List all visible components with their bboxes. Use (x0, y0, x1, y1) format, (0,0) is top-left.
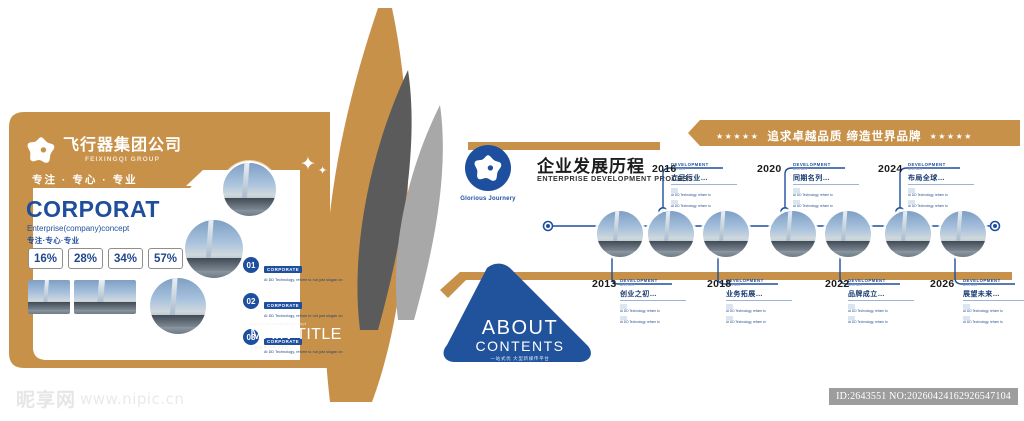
timeline-year: 2016 (652, 163, 677, 175)
list-item-text: At DD Technology, reform to not just slo… (264, 278, 343, 282)
bridge-photo (74, 280, 136, 314)
company-logo: 飞行器集团公司 FEIXINGQI GROUP (26, 136, 182, 165)
list-item: 02 CORPORATE At DD Technology, reform to… (243, 293, 355, 318)
list-item-tag: CORPORATE (264, 302, 302, 309)
bridge-photo (770, 211, 816, 257)
timeline-body: At DD Technology, reform to (671, 200, 737, 209)
list-item-tag: CORPORATE (264, 266, 302, 273)
sparkle-icon: ✦ (262, 222, 283, 247)
timeline-year: 2024 (878, 163, 903, 175)
star-icon (26, 136, 56, 165)
sparkle-icon: ✦ (300, 155, 316, 174)
timeline-photo (701, 209, 751, 259)
timeline-heading: 同期名列… (793, 173, 859, 186)
star-circle-icon (473, 154, 503, 183)
company-slogan: 专注 · 专心 · 专业 (32, 172, 138, 187)
journey-logo (465, 145, 511, 191)
timeline-body: At DD Technology, reform to (620, 304, 686, 313)
watermark-url: www.nipic.cn (80, 390, 184, 408)
timeline-year: 2013 (592, 278, 617, 290)
bridge-photo (703, 211, 749, 257)
thumb-photo-2 (74, 280, 136, 314)
timeline-photo (823, 209, 873, 259)
circle-photo-middle (183, 218, 245, 280)
timeline-heading: 业务拓展… (726, 289, 792, 302)
timeline-body: At DD Technology, reform to (726, 316, 792, 325)
corporate-title: CORPORAT (26, 198, 160, 221)
timeline-year: 2018 (707, 278, 732, 290)
circle-photo-top (221, 161, 278, 218)
bridge-photo (885, 211, 931, 257)
bridge-photo (940, 211, 986, 257)
timeline-heading: 创业之初… (620, 289, 686, 302)
timeline-body: At DD Technology, reform to (620, 316, 686, 325)
bridge-photo (597, 211, 643, 257)
thumbnail-row (28, 280, 136, 314)
timeline-node: DEVELOPMENTHISTORY布局全球… At DD Technology… (908, 163, 974, 209)
percentage-chip: 57% (148, 248, 183, 269)
timeline-body: At DD Technology, reform to (908, 188, 974, 197)
timeline-year: 2020 (757, 163, 782, 175)
about-tiny-text: 一站式优 大型新媒传平台 (460, 356, 580, 362)
thumb-photo-1 (28, 280, 70, 314)
bridge-photo (223, 163, 276, 216)
list-item-text: At DD Technology, reform to not just slo… (264, 350, 343, 354)
about-text-block: ABOUT CONTENTS 一站式优 大型新媒传平台 (460, 318, 580, 362)
timeline-kicker-sub: HISTORY (671, 168, 737, 172)
list-item: 01 CORPORATE At DD Technology, reform to… (243, 257, 355, 282)
timeline-body: At DD Technology, reform to (793, 200, 859, 209)
percentage-chip: 34% (108, 248, 143, 269)
timeline-kicker: DEVELOPMENTHISTORY (908, 163, 974, 171)
percentage-chip: 28% (68, 248, 103, 269)
timeline-body: At DD Technology, reform to (793, 188, 859, 197)
timeline-kicker: DEVELOPMENTHISTORY (671, 163, 737, 171)
percentage-row: 16% 28% 34% 57% (28, 248, 183, 269)
culture-wall-canvas: ✦ ✦ ✦ 飞行器集团公司 FEIXINGQI GROUP 专注 · 专心 · … (0, 0, 1024, 421)
timeline-node: DEVELOPMENTHISTORY立足行业… At DD Technology… (671, 163, 737, 209)
image-id-badge: ID:2643551 NO:20260424162926547104 (829, 388, 1018, 405)
bridge-photo (825, 211, 871, 257)
timeline-node: DEVELOPMENTHISTORY品牌成立… At DD Technology… (848, 279, 914, 325)
timeline-photo (768, 209, 818, 259)
timeline-heading: 立足行业… (671, 173, 737, 186)
timeline-body: At DD Technology, reform to (908, 200, 974, 209)
corporate-subtitle-en: Enterprise(company)concept (27, 224, 129, 233)
timeline-node: DEVELOPMENTHISTORY创业之初… At DD Technology… (620, 279, 686, 325)
company-name-cn: 飞行器集团公司 (63, 138, 182, 154)
timeline-body: At DD Technology, reform to (963, 304, 1024, 313)
timeline-photo (938, 209, 988, 259)
timeline-year: 2022 (825, 278, 850, 290)
corporate-subtitle-cn: 专注·专心·专业 (27, 235, 79, 246)
list-item-text: At DD Technology, reform to not just slo… (264, 314, 343, 318)
bridge-photo (185, 220, 243, 278)
ribbon-slogan: ★★★★★ 追求卓越品质 缔造世界品牌 ★★★★★ (716, 128, 973, 144)
timeline-kicker-sub: HISTORY (848, 284, 914, 288)
section-title-en: ENTERPRISE DEVELOPMENT PROCESS (537, 174, 693, 183)
watermark: 昵享网 www.nipic.cn (16, 385, 184, 412)
timeline-body: At DD Technology, reform to (726, 304, 792, 313)
stars-right-icon: ★★★★★ (930, 132, 973, 141)
main-title-sub: CORPORATE (250, 345, 342, 350)
about-title: ABOUT (460, 318, 580, 338)
list-item-number: 02 (243, 293, 259, 309)
timeline-kicker-sub: HISTORY (908, 168, 974, 172)
bridge-photo (150, 278, 206, 334)
about-subtitle: CONTENTS (460, 338, 580, 355)
watermark-cn: 昵享网 (16, 385, 76, 412)
timeline-kicker: DEVELOPMENTHISTORY (963, 279, 1024, 287)
bridge-photo (28, 280, 70, 314)
timeline-body: At DD Technology, reform to (963, 316, 1024, 325)
stars-left-icon: ★★★★★ (716, 132, 759, 141)
timeline-kicker-sub: HISTORY (726, 284, 792, 288)
journey-logo-caption: Glorious Journery (455, 196, 521, 202)
timeline-node: DEVELOPMENTHISTORY展望未来… At DD Technology… (963, 279, 1024, 325)
timeline-heading: 布局全球… (908, 173, 974, 186)
sparkle-icon: ✦ (318, 166, 327, 177)
timeline-kicker-sub: HISTORY (620, 284, 686, 288)
timeline-kicker-sub: HISTORY (963, 284, 1024, 288)
timeline-photo (646, 209, 696, 259)
bridge-photo (648, 211, 694, 257)
list-item-number: 01 (243, 257, 259, 273)
timeline-kicker: DEVELOPMENTHISTORY (620, 279, 686, 287)
timeline-kicker: DEVELOPMENTHISTORY (848, 279, 914, 287)
main-title-block: Enterprise(company)concept MAIN TITLE CO… (250, 322, 342, 350)
timeline-node: DEVELOPMENTHISTORY业务拓展… At DD Technology… (726, 279, 792, 325)
ribbon-text: 追求卓越品质 缔造世界品牌 (767, 128, 921, 144)
timeline-body: At DD Technology, reform to (848, 304, 914, 313)
timeline-photo (883, 209, 933, 259)
timeline-photo (595, 209, 645, 259)
timeline-body: At DD Technology, reform to (671, 188, 737, 197)
circle-photo-bottom (148, 276, 208, 336)
timeline-kicker-sub: HISTORY (793, 168, 859, 172)
percentage-chip: 16% (28, 248, 63, 269)
timeline-kicker: DEVELOPMENTHISTORY (793, 163, 859, 171)
timeline-kicker: DEVELOPMENTHISTORY (726, 279, 792, 287)
timeline-node: DEVELOPMENTHISTORY同期名列… At DD Technology… (793, 163, 859, 209)
timeline-heading: 品牌成立… (848, 289, 914, 302)
main-title: MAIN TITLE (250, 327, 342, 343)
timeline-year: 2026 (930, 278, 955, 290)
timeline-body: At DD Technology, reform to (848, 316, 914, 325)
timeline-heading: 展望未来… (963, 289, 1024, 302)
company-name-en: FEIXINGQI GROUP (63, 157, 182, 164)
